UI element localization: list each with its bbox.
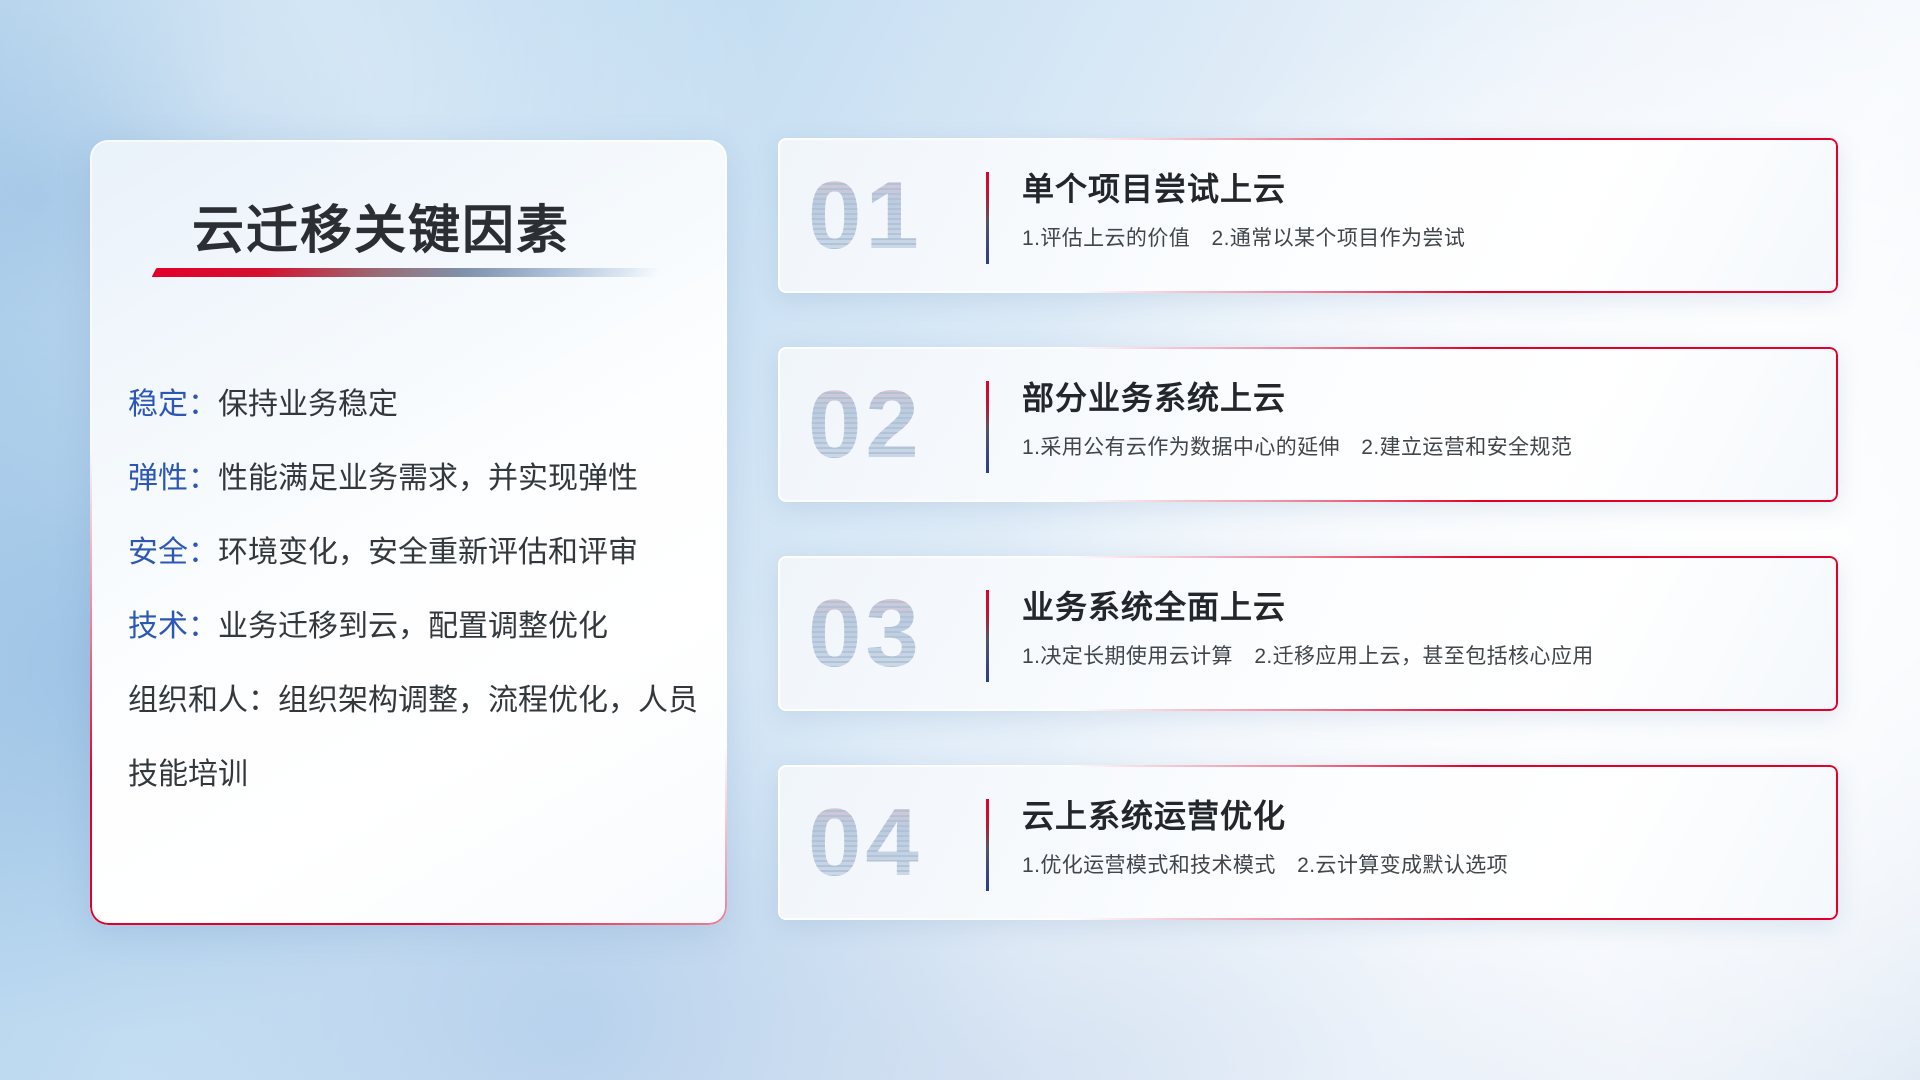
step-subtitle: 1.决定长期使用云计算 2.迁移应用上云，甚至包括核心应用 — [1022, 640, 1818, 670]
migration-steps-list: 01 单个项目尝试上云 1.评估上云的价值 2.通常以某个项目作为尝试 02 部… — [778, 138, 1838, 974]
list-item: 稳定：保持业务稳定 — [128, 368, 699, 442]
step-title: 云上系统运营优化 — [1022, 791, 1818, 837]
title-underline-rule — [152, 268, 662, 277]
step-number: 01 — [808, 168, 923, 264]
step-content: 部分业务系统上云 1.采用公有云作为数据中心的延伸 2.建立运营和安全规范 — [1022, 373, 1818, 461]
list-item-label: 安全： — [128, 536, 218, 569]
step-card-03[interactable]: 03 业务系统全面上云 1.决定长期使用云计算 2.迁移应用上云，甚至包括核心应… — [778, 556, 1838, 711]
key-factors-panel: 云迁移关键因素 稳定：保持业务稳定 弹性：性能满足业务需求，并实现弹性 安全：环… — [90, 140, 727, 925]
list-item: 组织和人：组织架构调整，流程优化，人员技能培训 — [128, 664, 699, 812]
list-item: 技术：业务迁移到云，配置调整优化 — [128, 590, 699, 664]
step-card-01[interactable]: 01 单个项目尝试上云 1.评估上云的价值 2.通常以某个项目作为尝试 — [778, 138, 1838, 293]
key-factors-list: 稳定：保持业务稳定 弹性：性能满足业务需求，并实现弹性 安全：环境变化，安全重新… — [128, 368, 699, 812]
list-item-label: 技术： — [128, 610, 218, 643]
list-item-value: 环境变化，安全重新评估和评审 — [218, 536, 638, 569]
step-title: 单个项目尝试上云 — [1022, 164, 1818, 210]
step-title: 部分业务系统上云 — [1022, 373, 1818, 419]
list-item: 弹性：性能满足业务需求，并实现弹性 — [128, 442, 699, 516]
list-item-label: 弹性： — [128, 462, 218, 495]
step-number: 04 — [808, 795, 923, 891]
list-item: 安全：环境变化，安全重新评估和评审 — [128, 516, 699, 590]
step-accent-bar — [986, 590, 989, 682]
step-content: 云上系统运营优化 1.优化运营模式和技术模式 2.云计算变成默认选项 — [1022, 791, 1818, 879]
list-item-value: 保持业务稳定 — [218, 388, 398, 421]
step-subtitle: 1.评估上云的价值 2.通常以某个项目作为尝试 — [1022, 222, 1818, 252]
list-item-label: 稳定： — [128, 388, 218, 421]
list-item-label: 组织和人： — [128, 684, 278, 717]
step-accent-bar — [986, 172, 989, 264]
step-subtitle: 1.优化运营模式和技术模式 2.云计算变成默认选项 — [1022, 849, 1818, 879]
step-content: 业务系统全面上云 1.决定长期使用云计算 2.迁移应用上云，甚至包括核心应用 — [1022, 582, 1818, 670]
step-card-04[interactable]: 04 云上系统运营优化 1.优化运营模式和技术模式 2.云计算变成默认选项 — [778, 765, 1838, 920]
step-number: 02 — [808, 377, 923, 473]
step-subtitle: 1.采用公有云作为数据中心的延伸 2.建立运营和安全规范 — [1022, 431, 1818, 461]
step-title: 业务系统全面上云 — [1022, 582, 1818, 628]
step-number: 03 — [808, 586, 923, 682]
step-card-02[interactable]: 02 部分业务系统上云 1.采用公有云作为数据中心的延伸 2.建立运营和安全规范 — [778, 347, 1838, 502]
list-item-value: 性能满足业务需求，并实现弹性 — [218, 462, 638, 495]
page-title: 云迁移关键因素 — [192, 188, 570, 263]
list-item-value: 业务迁移到云，配置调整优化 — [218, 610, 608, 643]
step-accent-bar — [986, 381, 989, 473]
step-content: 单个项目尝试上云 1.评估上云的价值 2.通常以某个项目作为尝试 — [1022, 164, 1818, 252]
step-accent-bar — [986, 799, 989, 891]
